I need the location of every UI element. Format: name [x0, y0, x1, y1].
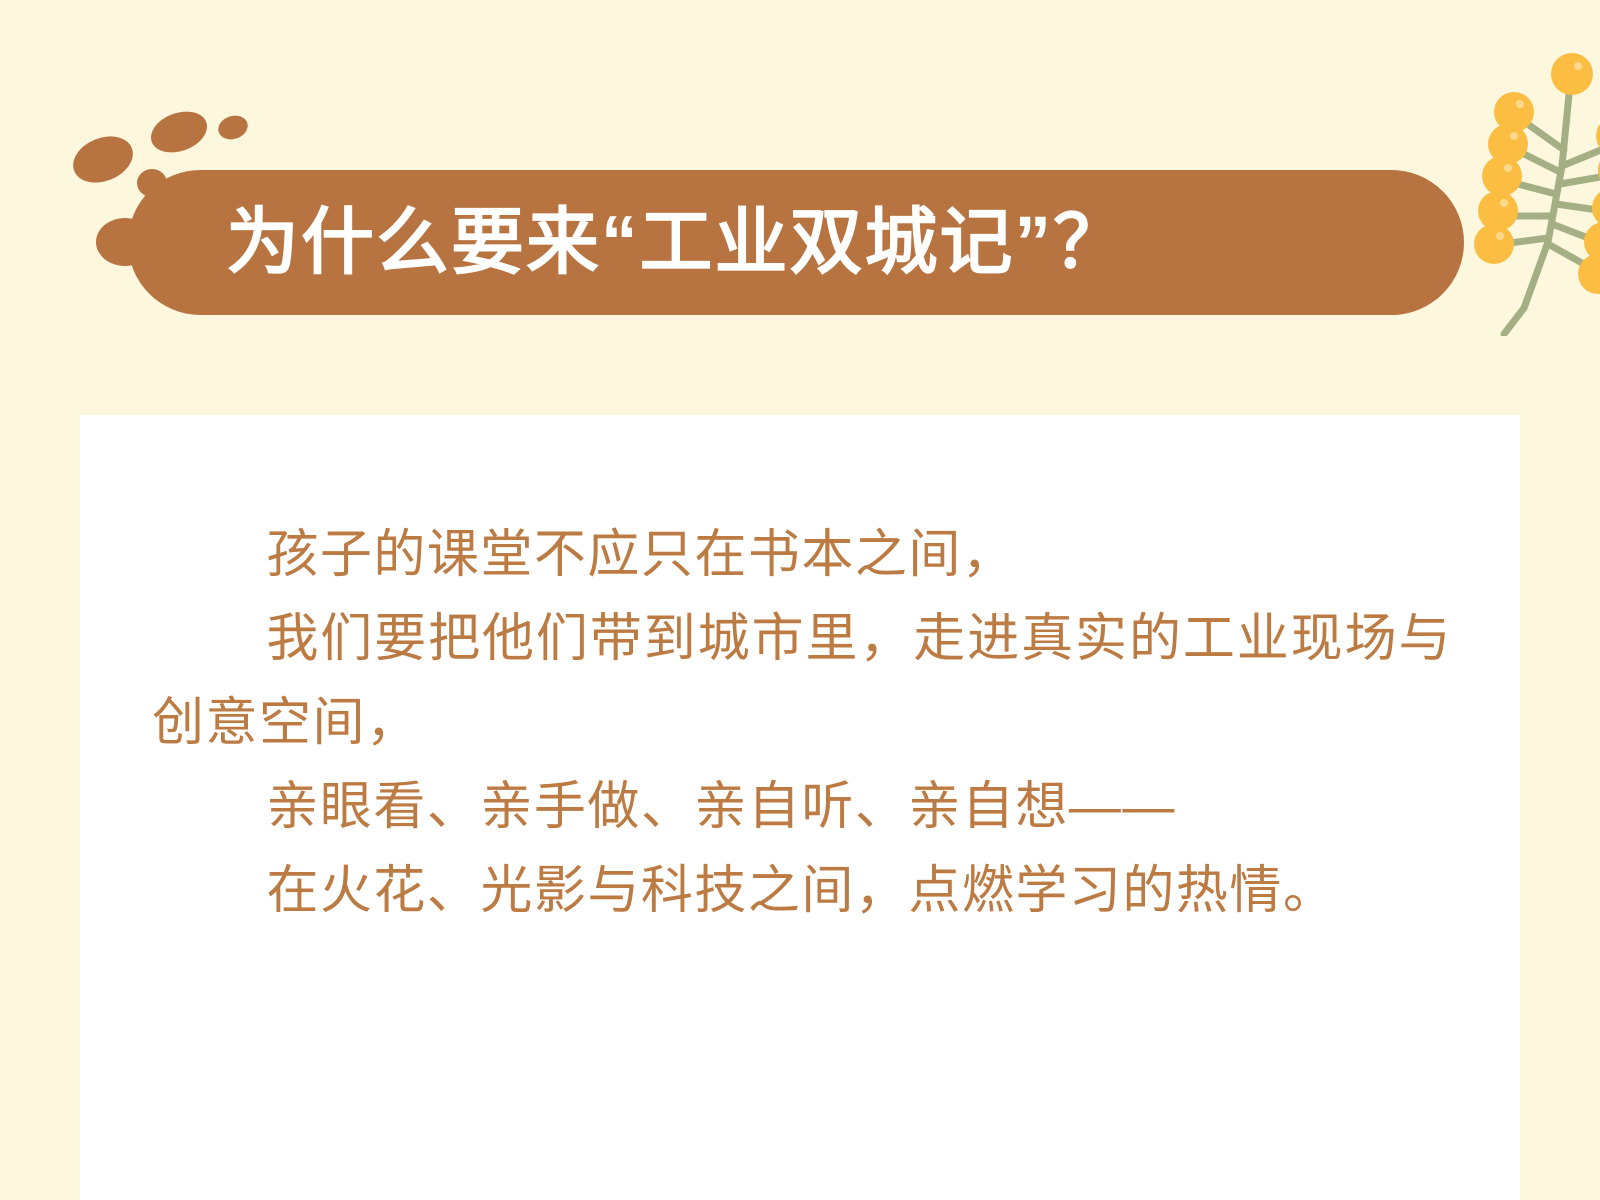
poster-canvas: 为什么要来“工业双城记”？ [0, 0, 1600, 1200]
decorative-blob-medium [145, 104, 212, 160]
berry-sprig-icon [1452, 46, 1600, 336]
body-paragraph-2: 我们要把他们带到城市里，走进真实的工业现场与创意空间， [152, 597, 1452, 765]
content-card: 孩子的课堂不应只在书本之间， 我们要把他们带到城市里，走进真实的工业现场与创意空… [80, 415, 1520, 1200]
decorative-blob-large [66, 128, 140, 191]
body-paragraph-3: 亲眼看、亲手做、亲自听、亲自想—— [152, 765, 1452, 849]
body-paragraph-1: 孩子的课堂不应只在书本之间， [152, 513, 1452, 597]
page-title: 为什么要来“工业双城记”？ [226, 206, 1128, 279]
decorative-blob-small [215, 112, 251, 143]
body-paragraph-4: 在火花、光影与科技之间，点燃学习的热情。 [152, 849, 1452, 933]
title-banner: 为什么要来“工业双城记”？ [128, 170, 1464, 315]
body-copy: 孩子的课堂不应只在书本之间， 我们要把他们带到城市里，走进真实的工业现场与创意空… [152, 513, 1452, 933]
